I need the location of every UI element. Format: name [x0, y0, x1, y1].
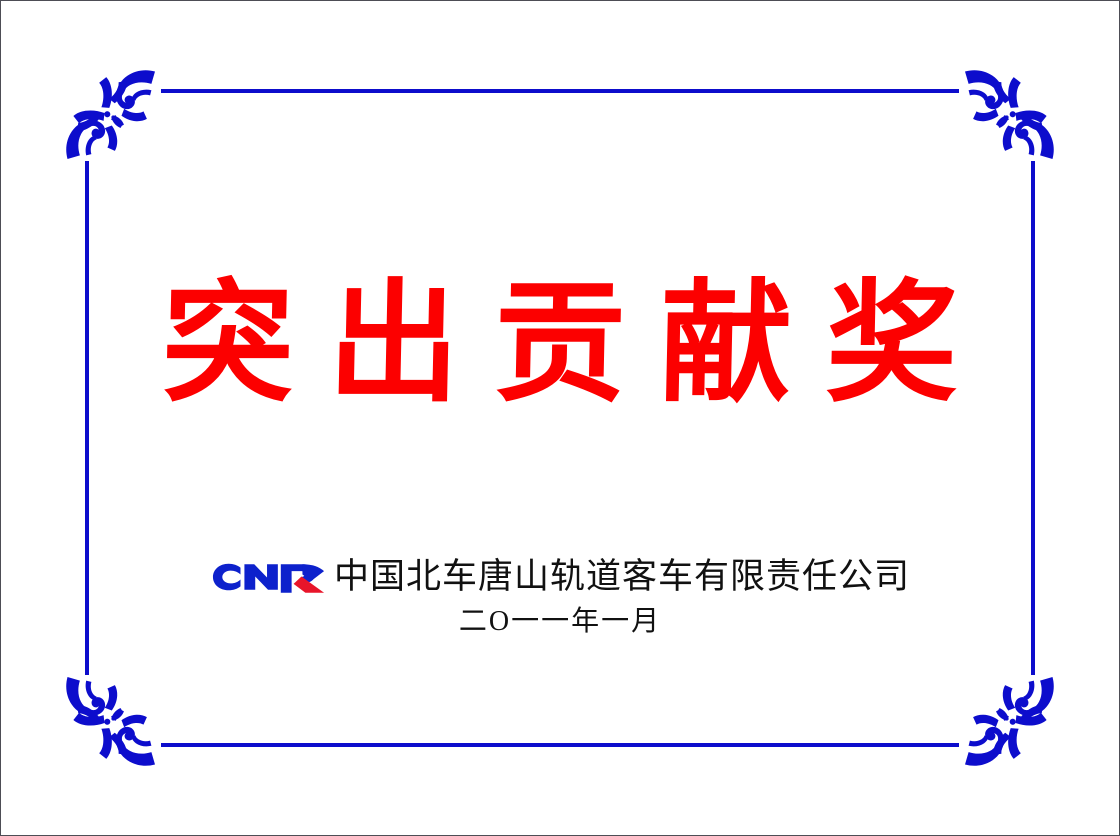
- corner-flourish-ornament-top-left: [55, 59, 159, 163]
- award-title-block: 突出贡献奖: [1, 273, 1119, 416]
- issue-date: 二O一一年一月: [1, 608, 1119, 636]
- award-title: 突出贡献奖: [127, 273, 994, 416]
- issuer-name: 中国北车唐山轨道客车有限责任公司: [334, 559, 910, 594]
- border-rule-bottom: [161, 743, 959, 747]
- border-rule-top: [161, 89, 959, 93]
- cnr-logo: [210, 560, 328, 594]
- signature-block: 中国北车唐山轨道客车有限责任公司 二O一一年一月: [1, 559, 1119, 636]
- corner-flourish-ornament-bottom-left: [55, 673, 159, 777]
- issuer-line: 中国北车唐山轨道客车有限责任公司: [1, 559, 1119, 594]
- corner-flourish-ornament-top-right: [961, 59, 1065, 163]
- corner-flourish-ornament-bottom-right: [961, 673, 1065, 777]
- certificate-page: 突出贡献奖 中国北车唐山轨道客车有限责任公司 二O一一年一月: [0, 0, 1120, 836]
